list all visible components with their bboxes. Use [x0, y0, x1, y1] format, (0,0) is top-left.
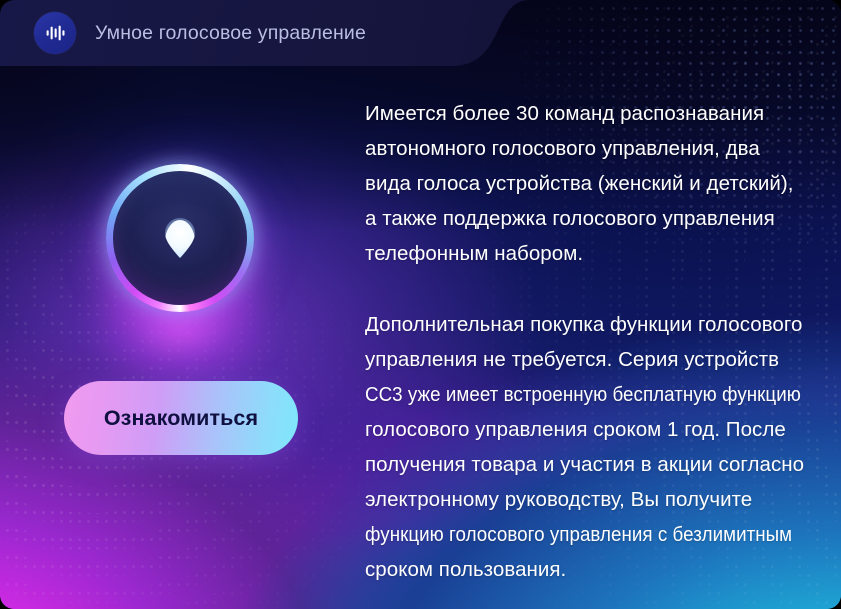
paragraph-2: Дополнительная покупка функции голосовог…	[365, 307, 809, 587]
orb-ring	[106, 164, 254, 312]
paragraph-2-line: CC3 уже имеет встроенную бесплатную функ…	[365, 377, 801, 412]
paragraph-2-line: Дополнительная покупка функции голосовог…	[365, 307, 809, 342]
paragraph-2-line: функцию голосового управления с безлимит…	[365, 517, 792, 552]
orb-inner-sphere	[113, 171, 247, 305]
paragraph-2-line: получения товара и участия в акции согла…	[365, 447, 809, 482]
voice-assistant-orb-icon	[106, 164, 254, 312]
paragraph-1: Имеется более 30 команд распознавания ав…	[365, 96, 809, 271]
paragraph-2-line: сроком пользования.	[365, 552, 809, 587]
teardrop-pin-icon	[165, 220, 195, 258]
voice-waveform-icon	[34, 12, 76, 54]
paragraph-2-line: голосового управления сроком 1 год. Посл…	[365, 412, 809, 447]
description-text-block: Имеется более 30 команд распознавания ав…	[365, 96, 809, 587]
paragraph-2-line: управления не требуется. Серия устройств	[365, 342, 809, 377]
page-title: Умное голосовое управление	[95, 22, 366, 45]
voice-control-promo-card: Умное голосовое управление Ознакомиться …	[0, 0, 841, 609]
paragraph-2-line: электронному руководству, Вы получите	[365, 482, 809, 517]
header-content: Умное голосовое управление	[0, 0, 592, 66]
learn-more-button[interactable]: Ознакомиться	[64, 381, 298, 455]
